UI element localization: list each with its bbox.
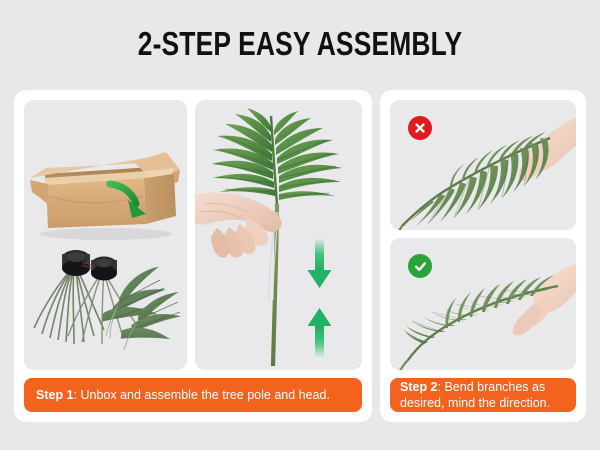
hand [195, 193, 282, 258]
step-1-caption: Step 1: Unbox and assemble the tree pole… [24, 378, 362, 412]
cardboard-box-illustration [28, 144, 184, 240]
step-2-caption: Step 2: Bend branches as desired, mind t… [390, 378, 576, 412]
step-1-text: Unbox and assemble the tree pole and hea… [80, 388, 329, 402]
tree-parts-illustration [24, 232, 187, 364]
pole-hub-2 [91, 257, 117, 281]
panel-wrong-direction [390, 100, 576, 230]
hand-holding-frond-illustration [195, 100, 362, 370]
down-arrow [308, 238, 332, 288]
assembly-instruction-graphic: 2-STEP EASY ASSEMBLY [0, 0, 600, 450]
step-2-card: Step 2: Bend branches as desired, mind t… [380, 90, 586, 422]
panel-correct-direction [390, 238, 576, 370]
palm-frond [211, 108, 342, 204]
step-1-card: Step 1: Unbox and assemble the tree pole… [14, 90, 372, 422]
up-arrow [308, 308, 332, 358]
page-title: 2-STEP EASY ASSEMBLY [60, 24, 540, 64]
success-check-icon [408, 254, 432, 278]
step-1-label: Step 1 [36, 388, 74, 402]
direction-arrows [308, 238, 332, 358]
panel-unboxing [24, 100, 187, 370]
error-x-icon [408, 116, 432, 140]
panel-assembly [195, 100, 362, 370]
step-2-label: Step 2 [400, 380, 438, 394]
